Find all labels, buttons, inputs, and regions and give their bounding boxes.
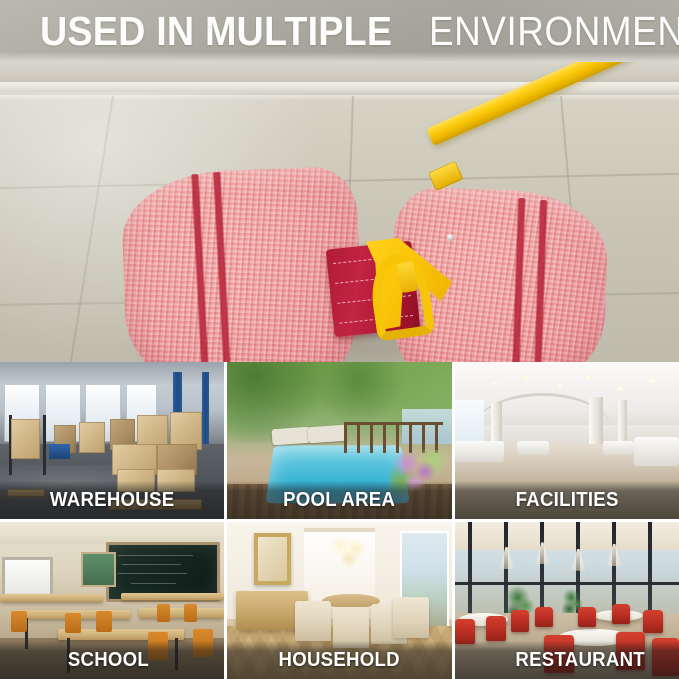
ceiling-downlight [585, 375, 592, 379]
title-bold-part: USED IN MULTIPLE [40, 8, 392, 54]
window-transom [455, 582, 679, 585]
pool-scene [227, 362, 451, 519]
environment-cell-warehouse[interactable]: WAREHOUSE [0, 362, 224, 519]
green-bulletin-board [81, 552, 116, 587]
dining-chair [393, 597, 429, 638]
red-chair [612, 604, 630, 624]
window-mullion [648, 522, 652, 619]
warehouse-pallet [7, 489, 45, 497]
warehouse-ceiling [0, 362, 224, 384]
restaurant-ceiling [455, 522, 679, 550]
warehouse-scene [0, 362, 224, 519]
desk-leg [175, 638, 178, 669]
header-banner: USED IN MULTIPLEENVIRONMENTS [0, 0, 679, 62]
framed-artwork [254, 533, 291, 585]
hero-product-photo [0, 62, 679, 362]
red-chair [486, 616, 506, 641]
classroom-chair [65, 613, 81, 633]
lobby-window [455, 400, 484, 447]
classroom-chair [157, 604, 170, 623]
household-scene [227, 522, 451, 679]
whiteboard [2, 557, 53, 598]
environment-grid: WAREHOUSE POOL AREA [0, 362, 679, 679]
deck-railing [344, 422, 443, 453]
classroom-ceiling [0, 522, 224, 544]
dining-chair [295, 601, 331, 642]
chalk-mark [131, 583, 176, 584]
page-title: USED IN MULTIPLEENVIRONMENTS [40, 8, 679, 54]
dining-chair [333, 607, 369, 648]
red-chair [511, 610, 529, 632]
student-desk [0, 594, 103, 602]
handle-rivet [447, 234, 454, 241]
classroom-chair [96, 611, 112, 631]
warehouse-pallet [108, 499, 202, 510]
chandelier [328, 535, 370, 569]
chalk-mark [118, 573, 187, 574]
lounge-chair [308, 425, 347, 444]
window-mullion [540, 522, 544, 619]
warehouse-carton [79, 422, 106, 453]
classroom-chair [148, 632, 168, 660]
classroom-chair [193, 629, 213, 657]
desk-leg [67, 638, 70, 673]
red-chair [578, 607, 596, 627]
classroom-chair [11, 611, 27, 631]
red-chair [652, 638, 679, 676]
warehouse-rack-post [43, 415, 46, 475]
warehouse-cart [49, 444, 69, 460]
facilities-scene [455, 362, 679, 519]
student-desk [139, 608, 224, 617]
warehouse-carton [11, 419, 40, 460]
environment-cell-restaurant[interactable]: RESTAURANT [455, 522, 679, 679]
environment-cell-household[interactable]: HOUSEHOLD [227, 522, 451, 679]
classroom-floor [0, 638, 224, 679]
warehouse-carton [117, 469, 155, 493]
lounge-chair [272, 427, 311, 446]
school-scene [0, 522, 224, 679]
chalk-mark [122, 564, 181, 565]
pool-water [265, 445, 409, 503]
reception-counter [517, 441, 548, 455]
environment-cell-school[interactable]: SCHOOL [0, 522, 224, 679]
red-chair [544, 635, 573, 673]
red-chair [616, 632, 645, 670]
flower-planter [389, 450, 447, 497]
product-infographic: USED IN MULTIPLEENVIRONMENTS [0, 0, 679, 679]
restaurant-scene [455, 522, 679, 679]
reception-desk [634, 437, 679, 465]
ceiling-downlight [491, 381, 498, 385]
environment-cell-pool-area[interactable]: POOL AREA [227, 362, 451, 519]
red-chair [643, 610, 663, 634]
environment-cell-facilities[interactable]: FACILITIES [455, 362, 679, 519]
red-chair [535, 607, 553, 627]
warehouse-carton [157, 469, 195, 493]
chalk-mark [118, 555, 193, 556]
student-desk [121, 593, 224, 601]
reception-counter [455, 441, 504, 463]
title-light-part: ENVIRONMENTS [429, 8, 679, 54]
red-chair [455, 619, 475, 644]
window-mullion [468, 522, 472, 619]
classroom-chair [184, 604, 197, 623]
ceiling-downlight [556, 384, 563, 388]
reception-counter [603, 441, 634, 455]
